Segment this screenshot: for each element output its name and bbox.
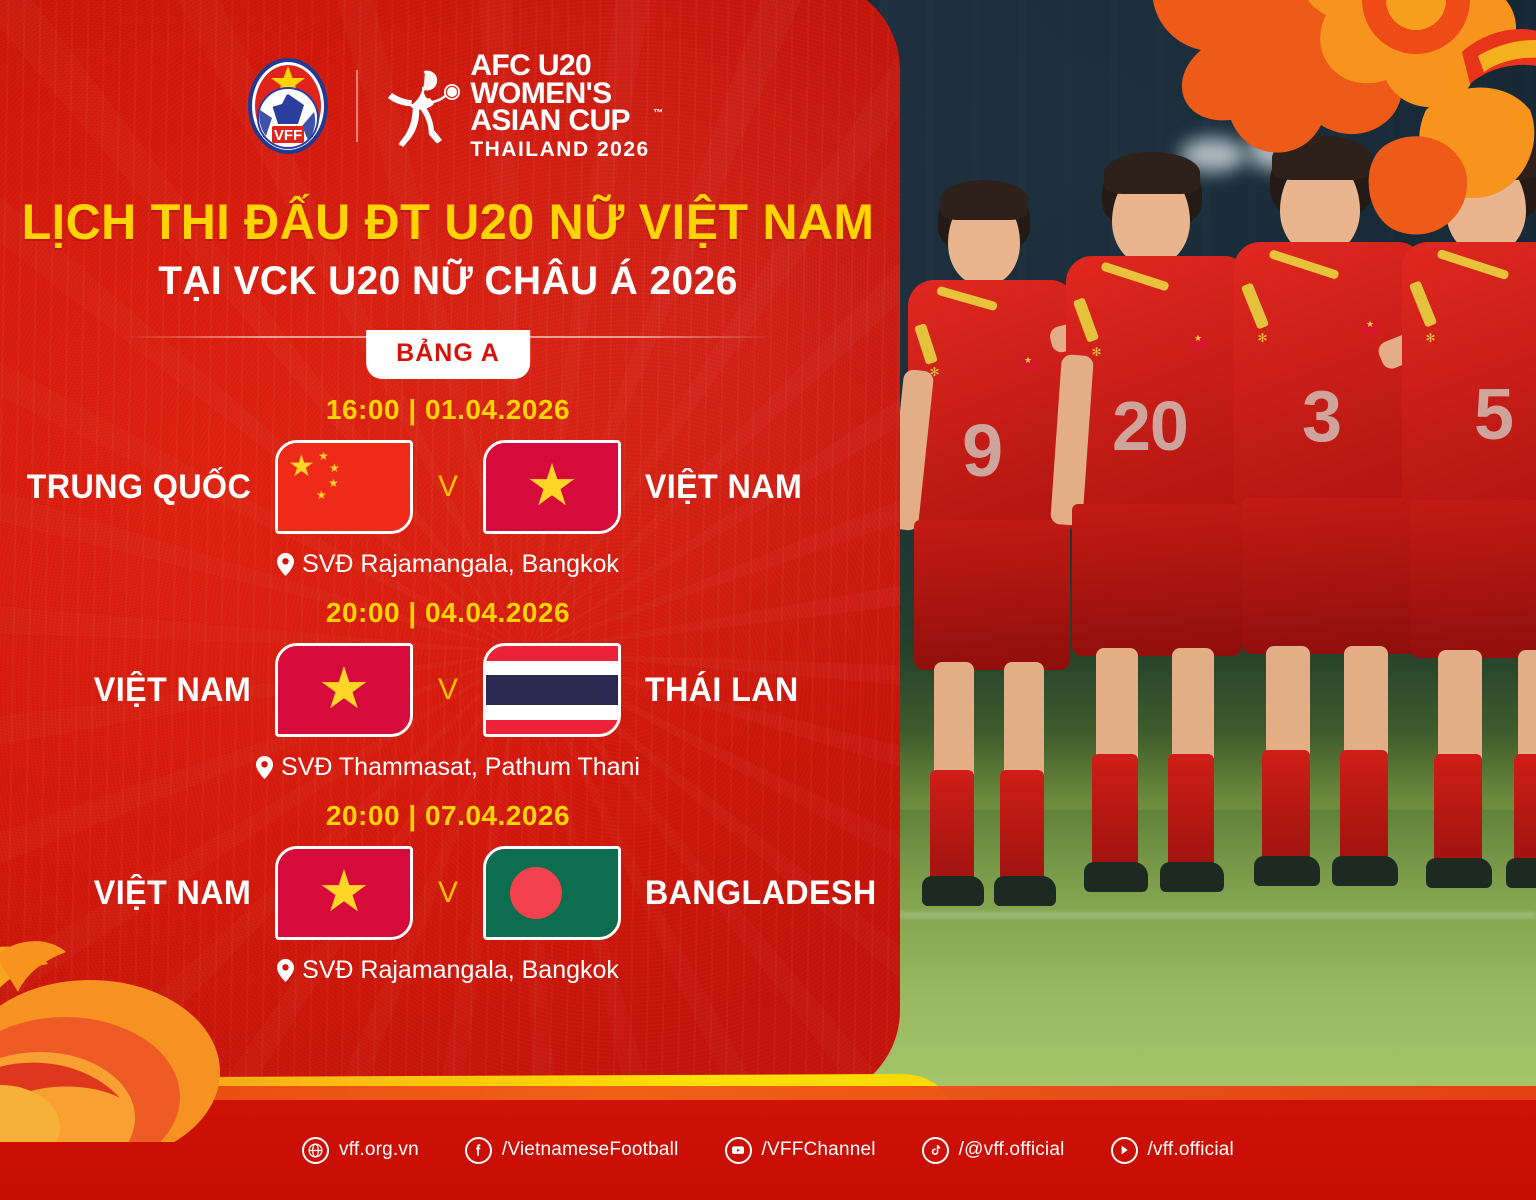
venue-label: SVĐ Rajamangala, Bangkok	[302, 550, 619, 579]
panel-content: VFF	[0, 0, 896, 1100]
match-datetime: 20:00 | 04.04.2026	[0, 597, 896, 629]
match-date: 04.04.2026	[425, 597, 570, 628]
match-venue: SVĐ Rajamangala, Bangkok	[0, 550, 896, 579]
match-time: 20:00	[326, 800, 400, 831]
match-separator: |	[408, 597, 416, 628]
afc-line-2: WOMEN'S	[470, 80, 649, 108]
logo-row: VFF	[0, 0, 896, 159]
match-separator: |	[408, 394, 416, 425]
social-link-tiktok[interactable]: /@vff.official	[922, 1137, 1065, 1164]
match-teams: VIỆT NAM ★ V THÁI LAN	[0, 637, 896, 743]
vietnam-flag: ★	[483, 440, 621, 534]
poster-root: ✻ 9 ✻ 20	[0, 0, 1536, 1200]
match-time: 16:00	[326, 394, 400, 425]
bangladesh-flag	[483, 846, 621, 940]
match-row: 20:00 | 04.04.2026 VIỆT NAM ★ V THÁI LAN	[0, 597, 896, 782]
trademark-mark: ™	[653, 109, 662, 118]
social-link-zalo[interactable]: /vff.official	[1111, 1137, 1234, 1164]
afc-line-3-text: ASIAN CUP	[470, 104, 630, 137]
social-links-row: vff.org.vn /VietnameseFootball /VFFChann…	[0, 1100, 1536, 1200]
versus-separator: V	[413, 470, 483, 504]
tiktok-icon	[922, 1137, 949, 1164]
match-separator: |	[408, 800, 416, 831]
match-date: 07.04.2026	[425, 800, 570, 831]
social-label: /@vff.official	[959, 1139, 1065, 1161]
social-label: /VFFChannel	[762, 1139, 876, 1161]
afc-player-silhouette-icon	[384, 62, 460, 150]
home-team-name: VIỆT NAM	[12, 874, 269, 913]
away-team-name: BANGLADESH	[628, 874, 885, 913]
match-date: 01.04.2026	[425, 394, 570, 425]
social-link-facebook[interactable]: /VietnameseFootball	[465, 1137, 679, 1164]
social-label: /vff.official	[1148, 1139, 1234, 1161]
afc-line-4: THAILAND 2026	[470, 140, 649, 159]
china-flag: ★ ★ ★ ★ ★	[275, 440, 413, 534]
afc-line-3: ASIAN CUP™	[470, 107, 649, 135]
zalo-icon	[1111, 1137, 1138, 1164]
group-badge: BẢNG A	[366, 330, 530, 379]
logo-divider	[356, 70, 358, 142]
player-5: ✻ 5	[1400, 140, 1536, 990]
location-pin-icon	[277, 959, 294, 982]
facebook-icon	[465, 1137, 492, 1164]
page-title: LỊCH THI ĐẤU ĐT U20 NỮ VIỆT NAM	[13, 193, 882, 251]
social-link-website[interactable]: vff.org.vn	[302, 1137, 419, 1164]
globe-icon	[302, 1137, 329, 1164]
location-pin-icon	[277, 553, 294, 576]
match-teams: TRUNG QUỐC ★ ★ ★ ★ ★ V ★ VIỆT NAM	[0, 434, 896, 540]
versus-separator: V	[413, 673, 483, 707]
vietnam-flag: ★	[275, 643, 413, 737]
home-team-name: TRUNG QUỐC	[12, 468, 269, 507]
match-teams: VIỆT NAM ★ V BANGLADESH	[0, 840, 896, 946]
away-team-name: THÁI LAN	[628, 671, 885, 710]
svg-text:VFF: VFF	[274, 127, 302, 144]
home-team-name: VIỆT NAM	[12, 671, 269, 710]
match-time: 20:00	[326, 597, 400, 628]
versus-separator: V	[413, 876, 483, 910]
social-label: vff.org.vn	[339, 1139, 419, 1161]
match-datetime: 16:00 | 01.04.2026	[0, 394, 896, 426]
afc-logo-wordmark: AFC U20 WOMEN'S ASIAN CUP™ THAILAND 2026	[470, 52, 649, 159]
vff-logo: VFF	[246, 56, 330, 156]
match-row: 16:00 | 01.04.2026 TRUNG QUỐC ★ ★ ★ ★ ★ …	[0, 394, 896, 579]
youtube-icon	[725, 1137, 752, 1164]
venue-label: SVĐ Thammasat, Pathum Thani	[281, 753, 640, 782]
match-venue: SVĐ Rajamangala, Bangkok	[0, 956, 896, 985]
afc-logo: AFC U20 WOMEN'S ASIAN CUP™ THAILAND 2026	[384, 52, 649, 159]
venue-label: SVĐ Rajamangala, Bangkok	[302, 956, 619, 985]
vietnam-flag: ★	[275, 846, 413, 940]
match-venue: SVĐ Thammasat, Pathum Thani	[0, 753, 896, 782]
thailand-flag	[483, 643, 621, 737]
away-team-name: VIỆT NAM	[628, 468, 885, 507]
match-row: 20:00 | 07.04.2026 VIỆT NAM ★ V BANGLADE…	[0, 800, 896, 985]
page-subtitle: TẠI VCK U20 NỮ CHÂU Á 2026	[13, 259, 882, 304]
location-pin-icon	[256, 756, 273, 779]
group-band: BẢNG A	[0, 330, 896, 376]
social-link-youtube[interactable]: /VFFChannel	[725, 1137, 876, 1164]
afc-line-1: AFC U20	[470, 52, 649, 80]
match-datetime: 20:00 | 07.04.2026	[0, 800, 896, 832]
social-label: /VietnameseFootball	[502, 1139, 679, 1161]
